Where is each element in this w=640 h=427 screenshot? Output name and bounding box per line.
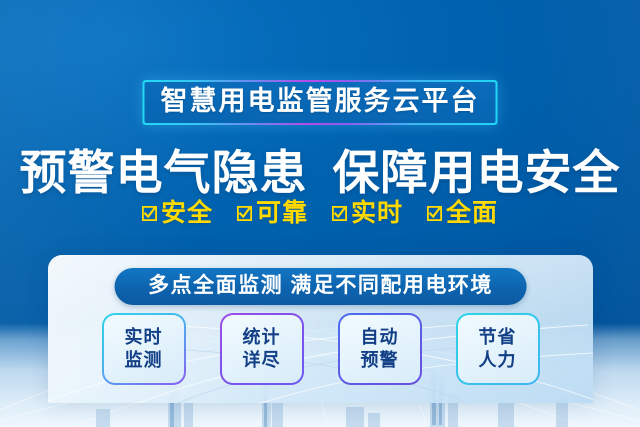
panel-headline-text: 多点全面监测 满足不同配用电环境	[148, 274, 493, 297]
benefit-card-line2: 详尽	[243, 349, 281, 372]
benefit-card-inner: 实时 监测	[104, 315, 184, 383]
benefit-card[interactable]: 统计 详尽	[220, 313, 304, 385]
headline-segment-1: 预警电气隐患	[20, 146, 308, 199]
feature-panel: 多点全面监测 满足不同配用电环境 实时 监测 统计 详尽 自动 预警	[48, 255, 593, 403]
poster-root: 智慧用电监管服务云平台 预警电气隐患 保障用电安全 安全	[0, 0, 640, 427]
checkbox-checked-icon	[237, 206, 252, 221]
benefit-card-inner: 节省 人力	[458, 315, 538, 383]
benefit-card[interactable]: 自动 预警	[338, 313, 422, 385]
feature-tag-label: 可靠	[256, 201, 308, 226]
benefit-card-line1: 节省	[479, 326, 517, 349]
headline: 预警电气隐患 保障用电安全	[0, 134, 640, 203]
feature-tag-list: 安全 可靠 实时	[0, 201, 640, 226]
subtitle-box: 智慧用电监管服务云平台	[143, 80, 498, 125]
benefit-card[interactable]: 实时 监测	[102, 313, 186, 385]
feature-tag: 实时	[332, 201, 403, 226]
benefit-card[interactable]: 节省 人力	[456, 313, 540, 385]
benefit-card-line2: 监测	[125, 349, 163, 372]
headline-segment-2: 保障用电安全	[332, 146, 620, 199]
checkbox-checked-icon	[427, 206, 442, 221]
benefit-card-list: 实时 监测 统计 详尽 自动 预警 节省 人力	[48, 313, 593, 385]
benefit-card-line1: 统计	[243, 326, 281, 349]
benefit-card-line1: 实时	[125, 326, 163, 349]
benefit-card-line1: 自动	[361, 326, 399, 349]
benefit-card-line2: 预警	[361, 349, 399, 372]
feature-tag-label: 安全	[161, 201, 213, 226]
feature-tag: 可靠	[237, 201, 308, 226]
checkbox-checked-icon	[332, 206, 347, 221]
benefit-card-line2: 人力	[479, 349, 517, 372]
benefit-card-inner: 自动 预警	[340, 315, 420, 383]
checkbox-checked-icon	[142, 206, 157, 221]
subtitle-box-inner: 智慧用电监管服务云平台	[145, 82, 496, 123]
subtitle-text: 智慧用电监管服务云平台	[161, 86, 480, 116]
feature-tag-label: 实时	[351, 201, 403, 226]
feature-tag-label: 全面	[446, 201, 498, 226]
feature-tag: 全面	[427, 201, 498, 226]
feature-tag: 安全	[142, 201, 213, 226]
benefit-card-inner: 统计 详尽	[222, 315, 302, 383]
panel-headline-pill: 多点全面监测 满足不同配用电环境	[114, 268, 527, 305]
